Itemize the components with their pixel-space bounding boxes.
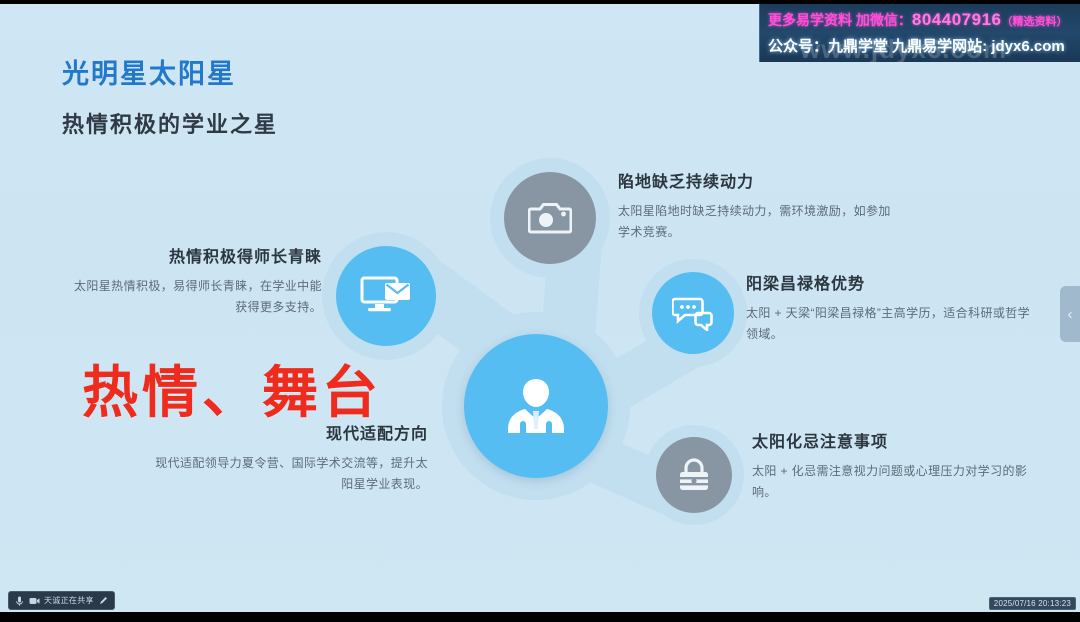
promo-banner: www.jdyx6.com 更多易学资料 加微信：804407916（精选资料）… — [759, 4, 1080, 62]
block-huaji-heading: 太阳化忌注意事项 — [752, 428, 1050, 452]
node-lock — [656, 437, 732, 513]
page-subtitle: 热情积极的学业之星 — [62, 107, 278, 139]
block-teacher-body: 太阳星热情积极，易得师长青睐，在学业中能获得更多支持。 — [68, 276, 322, 318]
microphone-icon[interactable] — [14, 595, 25, 606]
screen-share-toolbar[interactable]: 天诚正在共享 — [8, 591, 115, 610]
block-lack: 陷地缺乏持续动力 太阳星陷地时缺乏持续动力，需环境激励，如参加学术竞赛。 — [618, 168, 898, 243]
lock-icon — [677, 456, 711, 494]
node-center-user — [464, 334, 608, 478]
page-title: 光明星太阳星 — [62, 52, 236, 91]
node-monitor-mail — [336, 246, 436, 346]
panel-collapse-tab[interactable]: ‹ — [1060, 286, 1080, 342]
letterbox-top — [0, 0, 1080, 4]
annotation-overlay-text: 热情、舞台 — [82, 348, 382, 429]
block-modern-body: 现代适配领导力夏令营、国际学术交流等，提升太阳星学业表现。 — [150, 453, 428, 495]
block-teacher-heading: 热情积极得师长青睐 — [68, 243, 322, 267]
block-huaji-body: 太阳 + 化忌需注意视力问题或心理压力对学习的影响。 — [752, 461, 1050, 503]
pencil-annotate-icon[interactable] — [98, 595, 109, 606]
block-lack-heading: 陷地缺乏持续动力 — [618, 168, 898, 192]
promo-wechat-number: 804407916 — [912, 10, 1002, 29]
user-icon — [503, 375, 569, 437]
monitor-mail-icon — [360, 275, 412, 317]
block-geju-body: 太阳 + 天梁“阳梁昌禄格”主高学历，适合科研或哲学领域。 — [746, 303, 1036, 345]
chat-bubbles-icon — [672, 295, 714, 331]
camera-icon — [528, 201, 572, 235]
share-status-label: 天诚正在共享 — [44, 595, 94, 606]
chevron-left-icon: ‹ — [1068, 306, 1073, 323]
promo-line-2: 公众号：九鼎学堂 九鼎易学网站: jdyx6.com — [768, 35, 1065, 56]
letterbox-bottom — [0, 612, 1080, 622]
screen-capture-viewport: 光明星太阳星 热情积极的学业之星 — [0, 0, 1080, 622]
block-modern: 现代适配方向 现代适配领导力夏令营、国际学术交流等，提升太阳星学业表现。 — [150, 420, 428, 495]
node-camera — [504, 172, 596, 264]
block-geju-heading: 阳梁昌禄格优势 — [746, 270, 1036, 294]
block-teacher: 热情积极得师长青睐 太阳星热情积极，易得师长青睐，在学业中能获得更多支持。 — [68, 243, 322, 318]
block-huaji: 太阳化忌注意事项 太阳 + 化忌需注意视力问题或心理压力对学习的影响。 — [752, 428, 1050, 503]
promo-line-1-prefix: 更多易学资料 加微信： — [768, 12, 912, 28]
block-geju: 阳梁昌禄格优势 太阳 + 天梁“阳梁昌禄格”主高学历，适合科研或哲学领域。 — [746, 270, 1036, 345]
timestamp-label: 2025/07/16 20:13:23 — [989, 597, 1076, 610]
presentation-slide: 光明星太阳星 热情积极的学业之星 — [0, 0, 1080, 622]
block-lack-body: 太阳星陷地时缺乏持续动力，需环境激励，如参加学术竞赛。 — [618, 201, 898, 243]
promo-line-1-suffix: （精选资料） — [1001, 16, 1067, 28]
promo-line-1: 更多易学资料 加微信：804407916（精选资料） — [768, 10, 1067, 30]
node-chat — [652, 272, 734, 354]
camera-video-icon[interactable] — [29, 595, 40, 606]
